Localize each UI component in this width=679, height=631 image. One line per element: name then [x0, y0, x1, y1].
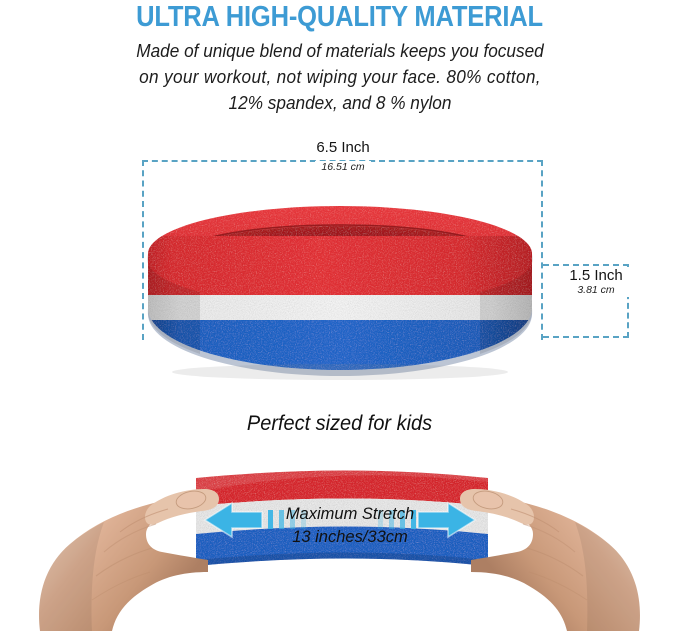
description-text: Made of unique blend of materials keeps … — [102, 38, 578, 116]
headband-illustration — [140, 196, 540, 386]
kids-size-caption: Perfect sized for kids — [17, 412, 662, 436]
height-inch-value: 1.5 Inch — [548, 267, 644, 284]
left-hand — [39, 489, 219, 631]
infographic-page: ULTRA HIGH-QUALITY MATERIAL Made of uniq… — [0, 0, 679, 631]
height-cm-value: 3.81 cm — [548, 284, 644, 297]
page-title: ULTRA HIGH-QUALITY MATERIAL — [41, 0, 639, 34]
stretch-demo-image — [0, 448, 679, 631]
description-line-1: Made of unique blend of materials keeps … — [102, 38, 578, 64]
right-hand — [460, 489, 640, 631]
stretch-illustration — [0, 448, 679, 631]
stripe-red — [140, 236, 540, 298]
width-inch-value: 6.5 Inch — [243, 139, 443, 156]
height-dimension-label: 1.5 Inch 3.81 cm — [548, 267, 644, 297]
description-line-3: 12% spandex, and 8 % nylon — [102, 90, 578, 116]
headband-product-image — [140, 196, 540, 386]
description-line-2: on your workout, not wiping your face. 8… — [102, 64, 578, 90]
